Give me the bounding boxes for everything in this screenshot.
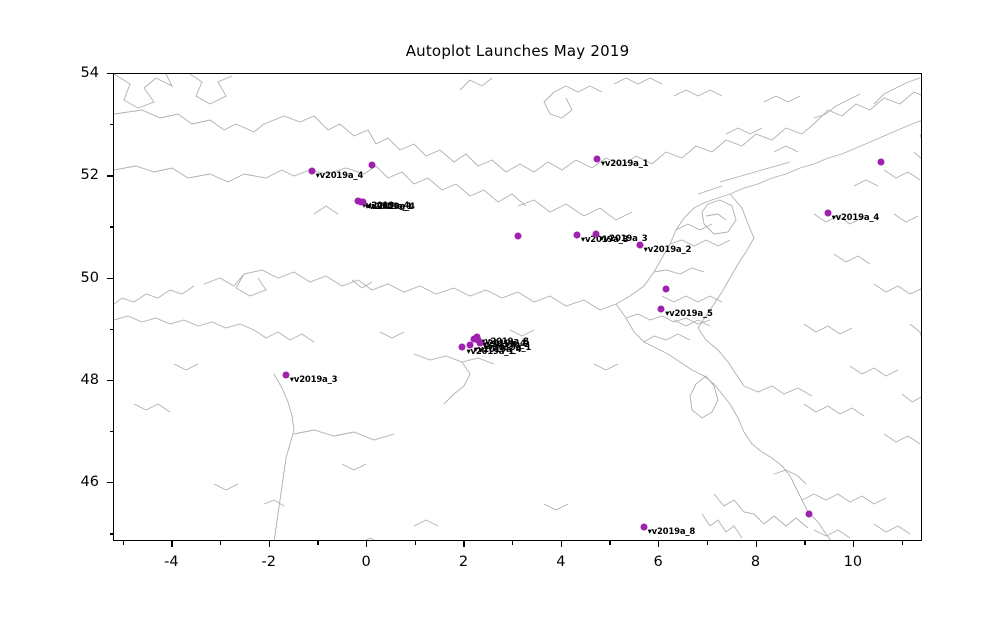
x-tick-label: -4 [164, 554, 178, 570]
data-point-label: ▾v2019a_8 [648, 527, 696, 537]
x-tick-minor [415, 541, 416, 545]
x-tick-major [366, 541, 367, 547]
x-tick-minor [123, 541, 124, 545]
x-tick-major [463, 541, 464, 547]
data-point-marker[interactable] [308, 168, 315, 175]
data-points-layer: ▾v2019a_4▾v2019a_4▾v2019a_1▾v2019a_4▾v20… [113, 73, 922, 541]
data-point-label: ▾v2019a_3 [290, 375, 338, 385]
y-tick-label: 52 [81, 167, 99, 183]
x-tick-minor [220, 541, 221, 545]
x-tick-label: 4 [556, 554, 565, 570]
x-tick-minor [512, 541, 513, 545]
x-tick-minor [902, 541, 903, 545]
data-point-marker[interactable] [368, 161, 375, 168]
x-tick-major [561, 541, 562, 547]
data-point-label: ▾v2019a_1 [601, 159, 649, 169]
data-point-marker[interactable] [466, 341, 473, 348]
data-point-label: ▾v2019a_2 [644, 245, 692, 255]
x-tick-major [269, 541, 270, 547]
data-point-label: ▾v2019a_4 [832, 213, 880, 223]
y-tick-label: 48 [81, 372, 99, 388]
data-point-marker[interactable] [360, 199, 367, 206]
data-point-marker[interactable] [593, 156, 600, 163]
data-point-marker[interactable] [640, 524, 647, 531]
data-point-label: ▾v2019a_4 [367, 202, 415, 212]
x-tick-major [756, 541, 757, 547]
x-tick-label: 6 [654, 554, 663, 570]
x-tick-minor [804, 541, 805, 545]
data-point-marker[interactable] [514, 232, 521, 239]
x-tick-minor [317, 541, 318, 545]
x-tick-label: 2 [459, 554, 468, 570]
data-point-marker[interactable] [824, 209, 831, 216]
x-tick-minor [609, 541, 610, 545]
data-point-marker[interactable] [658, 306, 665, 313]
figure-canvas: Autoplot Launches May 2019 [0, 0, 1003, 633]
data-point-marker[interactable] [806, 510, 813, 517]
y-tick-label: 50 [81, 270, 99, 286]
x-tick-minor [707, 541, 708, 545]
data-point-marker[interactable] [282, 371, 289, 378]
data-point-marker[interactable] [592, 230, 599, 237]
x-tick-major [171, 541, 172, 547]
data-point-marker[interactable] [573, 232, 580, 239]
x-tick-label: 0 [361, 554, 370, 570]
y-tick-label: 46 [81, 474, 99, 490]
y-tick-label: 54 [81, 65, 99, 81]
data-point-label: ▾v2019a_4 [474, 345, 522, 355]
data-point-marker[interactable] [636, 242, 643, 249]
chart-title: Autoplot Launches May 2019 [113, 42, 922, 60]
x-tick-label: 10 [844, 554, 862, 570]
x-tick-major [658, 541, 659, 547]
x-tick-major [853, 541, 854, 547]
data-point-label: ▾v2019a_5 [665, 309, 713, 319]
data-point-label: ▾v2019a_4 [316, 171, 364, 181]
data-point-marker[interactable] [662, 285, 669, 292]
data-point-marker[interactable] [459, 343, 466, 350]
x-tick-label: 8 [751, 554, 760, 570]
x-tick-label: -2 [262, 554, 276, 570]
data-point-marker[interactable] [878, 158, 885, 165]
